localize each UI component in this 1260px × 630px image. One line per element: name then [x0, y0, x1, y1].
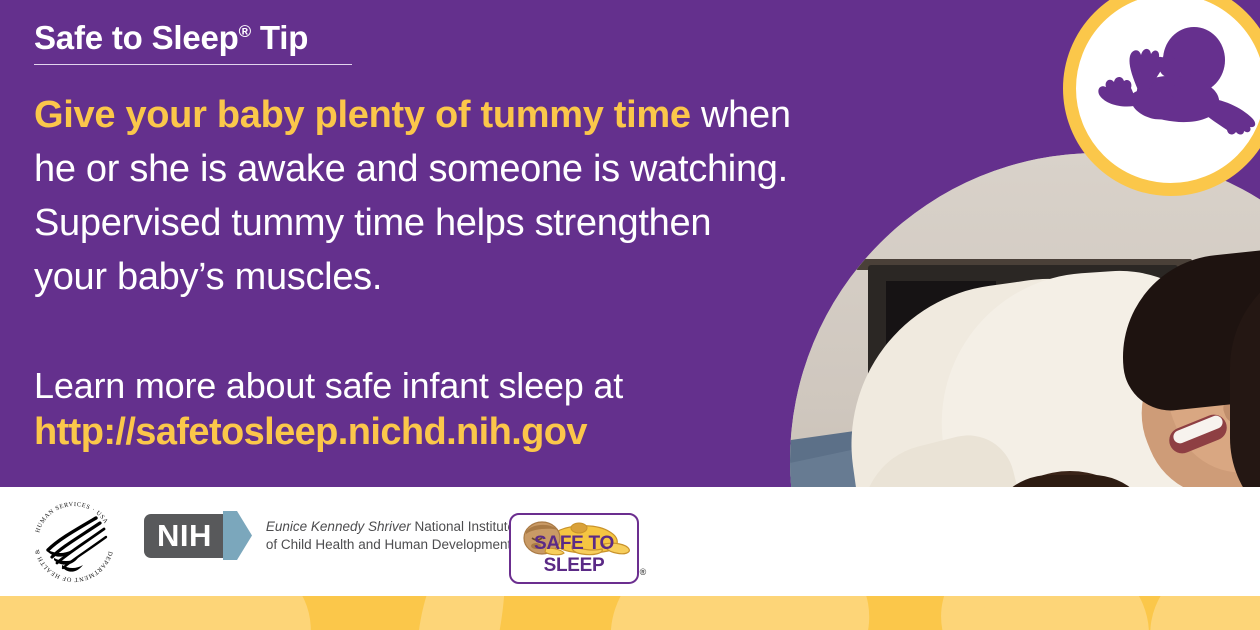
gold-swirl-6 — [646, 596, 825, 630]
learn-more-text: Learn more about safe infant sleep at — [34, 363, 794, 409]
footer-logos: HUMAN SERVICES · USA DEPARTMENT OF HEALT… — [0, 487, 800, 596]
nih-chevron-icon — [223, 511, 253, 560]
nih-institute-name-line2: of Child Health and Human Development — [266, 536, 515, 554]
tip-message: Give your baby plenty of tummy time when… — [34, 89, 794, 305]
nih-wordmark: NIH — [144, 514, 224, 558]
nih-institute-name-line1: Eunice Kennedy Shriver National Institut… — [266, 518, 515, 536]
safe-to-sleep-registered-mark: ® — [640, 567, 646, 577]
page-title-main: Safe to Sleep — [34, 19, 239, 56]
hhs-seal-logo: HUMAN SERVICES · USA DEPARTMENT OF HEALT… — [28, 496, 120, 588]
title-divider — [34, 64, 352, 65]
page-title-suffix: Tip — [251, 19, 308, 56]
nih-institute-name: Eunice Kennedy Shriver National Institut… — [266, 518, 515, 554]
safe-to-sleep-tip-poster: Safe to Sleep® Tip Give your baby plenty… — [0, 0, 1260, 630]
svg-text:HUMAN SERVICES · USA: HUMAN SERVICES · USA — [34, 501, 109, 534]
nih-logo: NIH Eunice Kennedy Shriver National Inst… — [144, 511, 515, 560]
safe-to-sleep-logo: SAFE TO SLEEP® — [509, 513, 639, 584]
gold-swirl-8 — [964, 596, 1117, 630]
hhs-seal-icon: HUMAN SERVICES · USA DEPARTMENT OF HEALT… — [28, 496, 120, 588]
nih-national-institute: National Institute — [411, 519, 515, 534]
nih-eunice-kennedy-shriver: Eunice Kennedy Shriver — [266, 519, 411, 534]
learn-more-block: Learn more about safe infant sleep at ht… — [34, 363, 794, 455]
tip-message-lead: Give your baby plenty of tummy time — [34, 94, 691, 136]
safe-to-sleep-wordmark: SAFE TO SLEEP® — [511, 533, 637, 577]
safe-to-sleep-wordmark-text: SAFE TO SLEEP — [534, 533, 614, 576]
gold-swirl-9 — [1134, 596, 1260, 630]
website-url[interactable]: http://safetosleep.nichd.nih.gov — [34, 409, 794, 455]
svg-text:DEPARTMENT OF HEALTH &: DEPARTMENT OF HEALTH & — [34, 548, 114, 583]
text-column: Safe to Sleep® Tip Give your baby plenty… — [34, 20, 794, 456]
footer-gold-band — [0, 596, 1260, 630]
tummy-time-baby-silhouette-icon — [1076, 0, 1260, 183]
page-title: Safe to Sleep® Tip — [34, 20, 794, 56]
registered-mark: ® — [239, 22, 251, 41]
